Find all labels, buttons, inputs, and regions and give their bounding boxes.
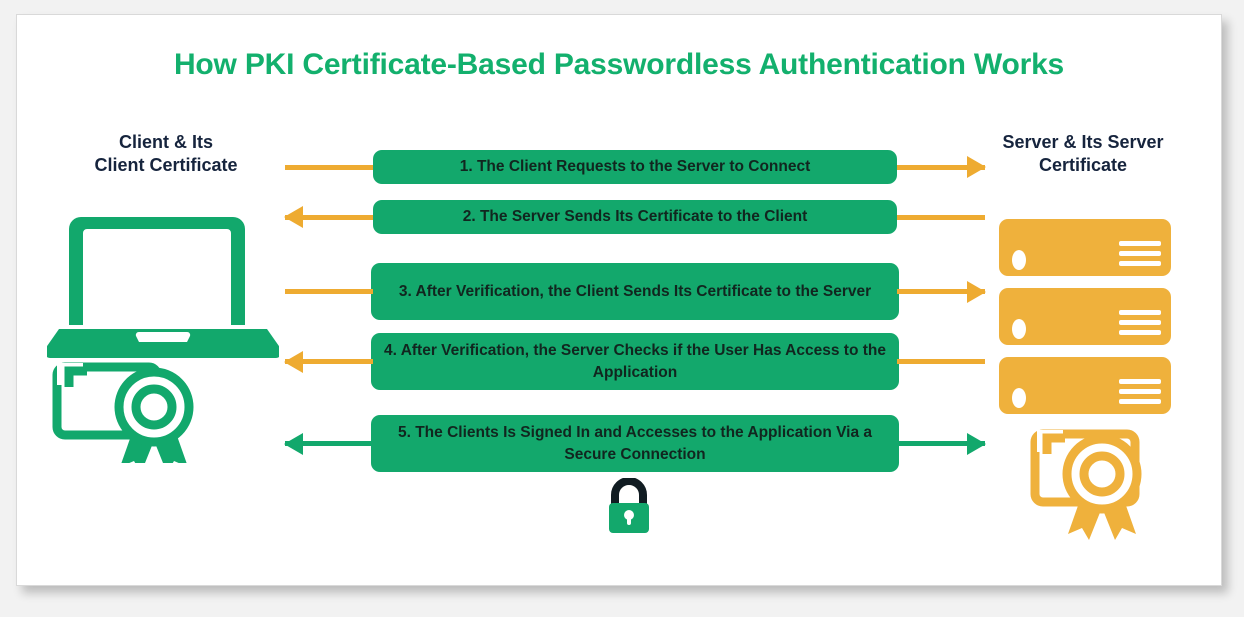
arrow-line-right-step-5	[897, 441, 985, 446]
infographic-card: How PKI Certificate-Based Passwordless A…	[16, 14, 1222, 586]
arrow-line-right-step-1	[897, 165, 985, 170]
server-unit-2	[999, 288, 1171, 345]
client-heading-line-1: Client & Its	[41, 131, 291, 154]
step-box-4[interactable]: 4. After Verification, the Server Checks…	[371, 333, 899, 390]
server-heading-line-2: Certificate	[947, 154, 1219, 177]
certificate-rosette-icon	[119, 372, 189, 442]
server-vent-icon	[1119, 310, 1161, 335]
server-column-heading: Server & Its Server Certificate	[947, 131, 1219, 178]
server-unit-1	[999, 219, 1171, 276]
padlock-icon	[597, 478, 661, 536]
server-led-icon	[1012, 250, 1026, 270]
page-title: How PKI Certificate-Based Passwordless A…	[17, 48, 1221, 82]
arrow-line-left-step-3	[285, 289, 373, 294]
arrowhead-left-icon	[284, 206, 303, 228]
arrow-line-right-step-4	[897, 359, 985, 364]
flow-row-step-3: 3. After Verification, the Client Sends …	[285, 263, 985, 320]
arrow-line-left-step-5	[285, 441, 373, 446]
arrowhead-left-icon	[284, 351, 303, 373]
server-vent-icon	[1119, 379, 1161, 404]
arrowhead-right-icon	[967, 433, 986, 455]
server-vent-icon	[1119, 241, 1161, 266]
certificate-rosette-icon	[1067, 439, 1137, 509]
padlock-icon-wrap	[597, 478, 661, 536]
client-column-heading: Client & Its Client Certificate	[41, 131, 291, 178]
arrow-line-left-step-1	[285, 165, 373, 170]
arrow-line-right-step-2	[897, 215, 985, 220]
client-icon-group	[47, 211, 279, 463]
server-led-icon	[1012, 319, 1026, 339]
server-icon-group	[995, 215, 1195, 545]
step-box-3[interactable]: 3. After Verification, the Client Sends …	[371, 263, 899, 320]
infographic-canvas: How PKI Certificate-Based Passwordless A…	[0, 0, 1244, 617]
arrowhead-left-icon	[284, 433, 303, 455]
flow-row-step-4: 4. After Verification, the Server Checks…	[285, 333, 985, 390]
flow-row-step-5: 5. The Clients Is Signed In and Accesses…	[285, 415, 985, 472]
server-icons-svg	[995, 215, 1195, 545]
step-box-5[interactable]: 5. The Clients Is Signed In and Accesses…	[371, 415, 899, 472]
laptop-icon	[47, 217, 279, 358]
arrow-line-left-step-4	[285, 359, 373, 364]
arrow-line-right-step-3	[897, 289, 985, 294]
step-box-1[interactable]: 1. The Client Requests to the Server to …	[373, 150, 897, 184]
flow-row-step-1: 1. The Client Requests to the Server to …	[285, 150, 985, 184]
arrowhead-right-icon	[967, 156, 986, 178]
step-box-2[interactable]: 2. The Server Sends Its Certificate to t…	[373, 200, 897, 234]
arrow-line-left-step-2	[285, 215, 373, 220]
certificate-seal-icon	[1035, 430, 1137, 540]
server-heading-line-1: Server & Its Server	[947, 131, 1219, 154]
client-icons-svg	[47, 211, 279, 463]
client-heading-line-2: Client Certificate	[41, 154, 291, 177]
flow-row-step-2: 2. The Server Sends Its Certificate to t…	[285, 200, 985, 234]
server-led-icon	[1012, 388, 1026, 408]
arrowhead-right-icon	[967, 281, 986, 303]
server-unit-3	[999, 357, 1171, 414]
